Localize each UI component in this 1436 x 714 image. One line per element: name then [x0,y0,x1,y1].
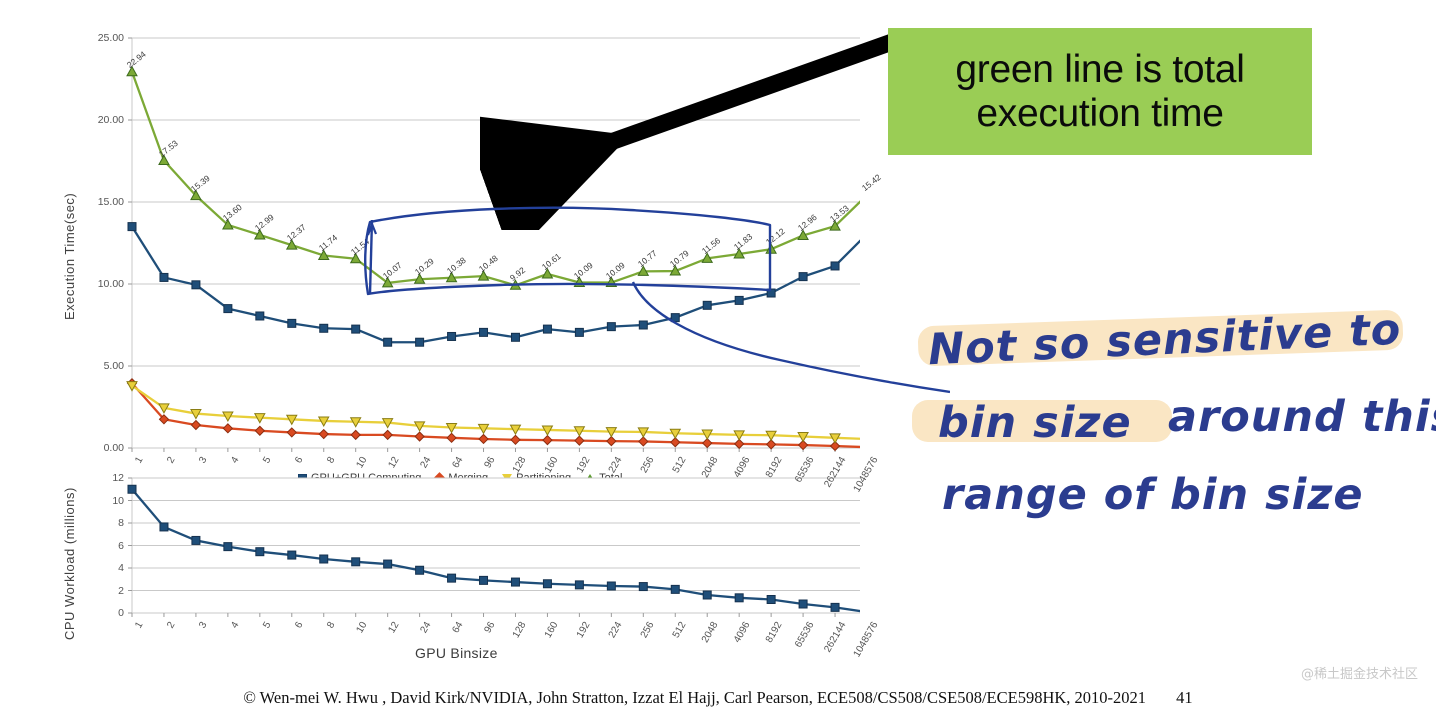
callout-line-1: green line is total [955,48,1244,92]
y-axis-tick: 20.00 [40,114,124,126]
y-axis-title-top: Execution Time(sec) [62,193,77,320]
y-axis-tick: 10.00 [40,278,124,290]
callout-line-2: execution time [976,92,1223,136]
handwritten-note-line-2a: bin size [938,398,1132,448]
y-axis-tick: 4 [40,562,124,574]
y-axis-tick: 2 [40,585,124,597]
y-axis-tick: 5.00 [40,360,124,372]
y-axis-tick: 25.00 [40,32,124,44]
slide-footer: © Wen-mei W. Hwu , David Kirk/NVIDIA, Jo… [0,688,1436,708]
y-axis-tick: 0 [40,607,124,619]
handwritten-note-line-1: Not so sensitive to [927,305,1402,376]
y-axis-tick: 15.00 [40,196,124,208]
handwritten-note-line-2b: around this [1168,392,1436,442]
page-number: 41 [1176,688,1193,708]
handwritten-note-line-3: range of bin size [942,470,1364,520]
y-axis-tick: 10 [40,495,124,507]
slide-root: Execution Time(sec) GPU+GPU Computing Me… [0,0,1436,714]
y-axis-tick: 8 [40,517,124,529]
green-line-callout-box: green line is total execution time [888,28,1312,155]
x-axis-title: GPU Binsize [415,645,498,661]
y-axis-tick: 12 [40,472,124,484]
y-axis-tick: 6 [40,540,124,552]
blue-lasso-annotation [350,190,950,610]
watermark-text: @稀土掘金技术社区 [1301,663,1418,682]
footer-credits: © Wen-mei W. Hwu , David Kirk/NVIDIA, Jo… [243,688,1146,707]
y-axis-tick: 0.00 [40,442,124,454]
